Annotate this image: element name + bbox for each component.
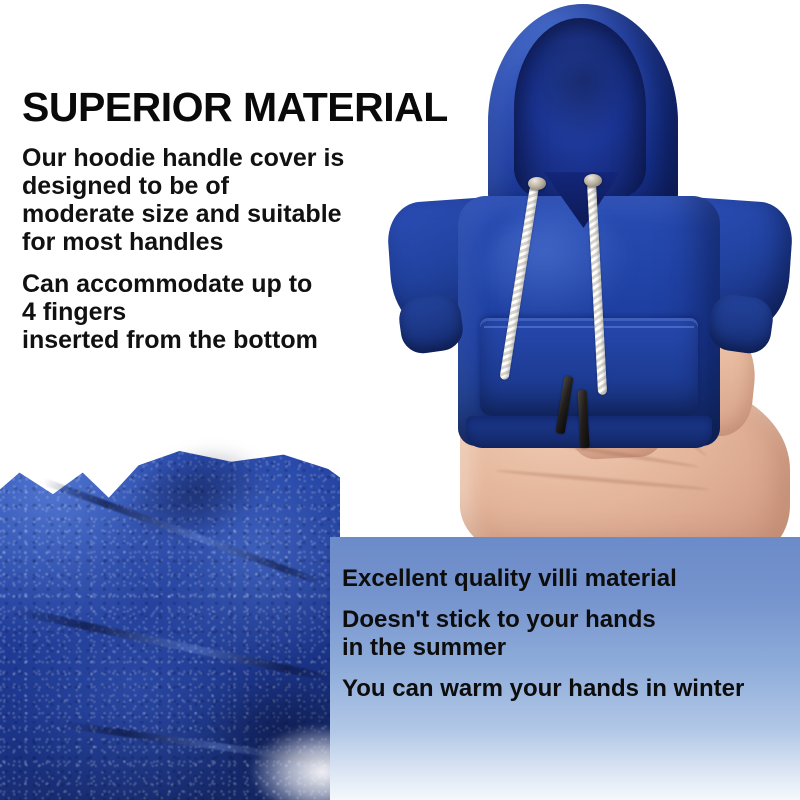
benefit-item: Doesn't stick to your hands in the summe…	[342, 606, 794, 661]
feature-copy-block: Our hoodie handle cover is designed to b…	[22, 144, 382, 368]
benefits-list: Excellent quality villi material Doesn't…	[342, 565, 794, 716]
benefit-item: Excellent quality villi material	[342, 565, 794, 592]
product-infographic: SUPERIOR MATERIAL Our hoodie handle cove…	[0, 0, 800, 800]
hoodie-cuff-left	[396, 292, 465, 356]
page-title: SUPERIOR MATERIAL	[22, 84, 448, 131]
fabric-sheen	[484, 210, 634, 330]
benefits-panel: Excellent quality villi material Doesn't…	[330, 537, 800, 800]
hood-shadow	[530, 40, 632, 140]
hero-product-photo	[380, 0, 800, 540]
drawstring-eyelet-right	[584, 174, 602, 187]
benefit-item: You can warm your hands in winter	[342, 675, 794, 702]
drawstring-eyelet-left	[528, 177, 546, 190]
fleece-closeup-photo	[0, 425, 340, 800]
hoodie-handle-cover	[380, 0, 800, 470]
feature-paragraph: Our hoodie handle cover is designed to b…	[22, 144, 382, 256]
feature-paragraph: Can accommodate up to 4 fingers inserted…	[22, 270, 382, 354]
